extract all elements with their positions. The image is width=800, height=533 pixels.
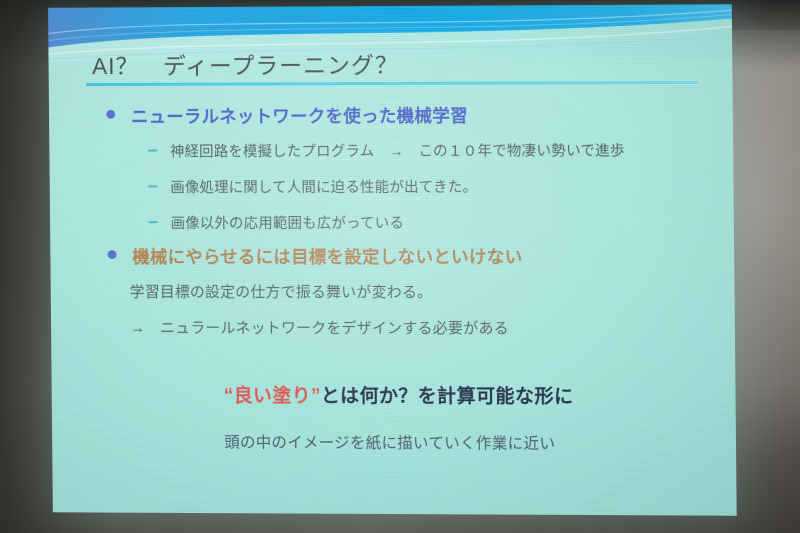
note-line: 学習目標の設定の仕方で振る舞いが変わる。 — [130, 281, 433, 302]
slide-title: AI？ ディープラーニング？ — [92, 46, 399, 81]
climax-rest: とは何か？を計算可能な形に — [321, 386, 574, 408]
bullet-item-1: ニューラルネットワークを使った機械学習 — [106, 103, 468, 129]
sub-bullet-1-3: 画像以外の応用範囲も広がっている — [149, 212, 404, 233]
bullet-item-2-label: 機械にやらせるには目標を設定しないといけない — [132, 244, 522, 269]
bullet-item-2: 機械にやらせるには目標を設定しないといけない — [108, 244, 523, 269]
dash-marker-icon — [149, 221, 158, 223]
presentation-slide: AI？ ディープラーニング？ ニューラルネットワークを使った機械学習 神経回路を… — [48, 4, 737, 515]
bullet-dot-icon — [108, 250, 117, 259]
sub-bullet-1-2-label: 画像処理に関して人間に迫る性能が出てきた。 — [170, 176, 477, 197]
sub-bullet-1-1: 神経回路を模擬したプログラム → この１０年で物凄い勢いで進歩 — [148, 139, 625, 161]
climax-highlight: “良い塗り” — [224, 386, 321, 407]
bullet-item-1-label: ニューラルネットワークを使った機械学習 — [131, 103, 468, 129]
closing-line: 頭の中のイメージを紙に描いていく作業に近い — [224, 430, 555, 453]
slide-canvas: AI？ ディープラーニング？ ニューラルネットワークを使った機械学習 神経回路を… — [48, 4, 737, 515]
title-underline-rule — [86, 81, 698, 86]
arrow-conclusion-line: → ニュラールネットワークをデザインする必要がある — [130, 317, 509, 338]
sub-bullet-1-1-label: 神経回路を模擬したプログラム → この１０年で物凄い勢いで進歩 — [170, 139, 625, 161]
projected-slide-photo: AI？ ディープラーニング？ ニューラルネットワークを使った機械学習 神経回路を… — [0, 0, 800, 533]
dash-marker-icon — [149, 185, 158, 187]
sub-bullet-1-3-label: 画像以外の応用範囲も広がっている — [171, 212, 405, 233]
sub-bullet-1-2: 画像処理に関して人間に迫る性能が出てきた。 — [148, 176, 477, 197]
dash-marker-icon — [148, 150, 157, 152]
bullet-dot-icon — [106, 110, 115, 119]
climax-line: “良い塗り”とは何か？を計算可能な形に — [224, 381, 574, 409]
